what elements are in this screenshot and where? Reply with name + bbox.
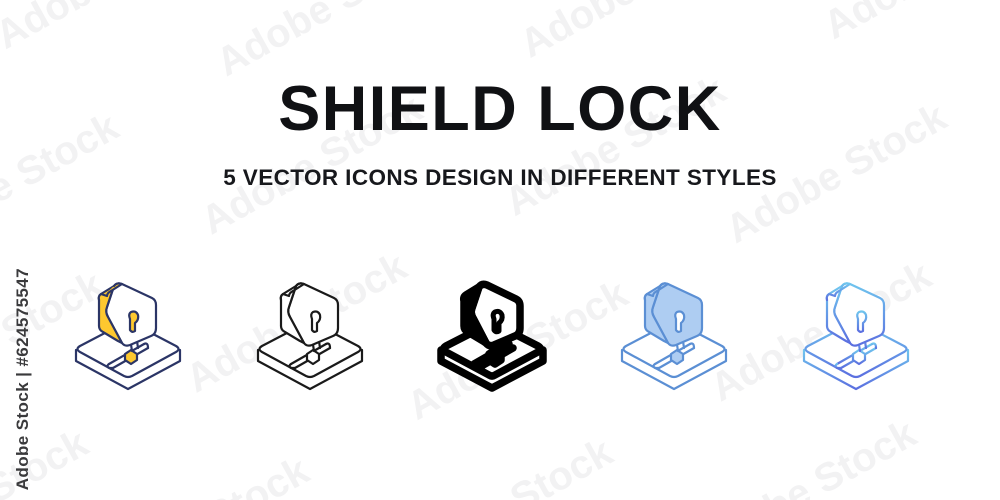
icon-cell-color-outline[interactable] [37,252,219,402]
stock-credit: Adobe Stock | #624575547 [6,0,40,500]
icon-cell-flat-blue[interactable] [583,252,765,402]
shield-lock-icon-gradient-blue[interactable] [796,262,916,392]
stock-credit-text: Adobe Stock | #624575547 [13,268,33,490]
watermark-text: Adobe Stock [909,439,1000,500]
watermark-text: Adobe Stock [385,430,621,500]
watermark-text: Adobe Stock [688,411,924,500]
watermark-text: Adobe Stock [81,448,317,500]
shield-lock-icon-flat-blue[interactable] [614,262,734,392]
icon-set-preview-canvas: Adobe Stock Adobe Stock Adobe Stock Adob… [0,0,1000,500]
icon-variant-row [0,252,1000,402]
icon-cell-gradient-blue[interactable] [765,252,947,402]
page-subtitle: 5 VECTOR ICONS DESIGN IN DIFFERENT STYLE… [0,141,1000,190]
watermark-row: Adobe Stock Adobe Stock Adobe Stock Adob… [178,434,1000,500]
shield-lock-icon-color-outline[interactable] [68,262,188,392]
page-title: SHIELD LOCK [0,0,1000,141]
icon-cell-line[interactable] [219,252,401,402]
shield-lock-icon-line[interactable] [250,262,370,392]
icon-cell-solid[interactable] [401,252,583,402]
shield-lock-icon-solid[interactable] [432,262,552,392]
heading-block: SHIELD LOCK 5 VECTOR ICONS DESIGN IN DIF… [0,0,1000,190]
